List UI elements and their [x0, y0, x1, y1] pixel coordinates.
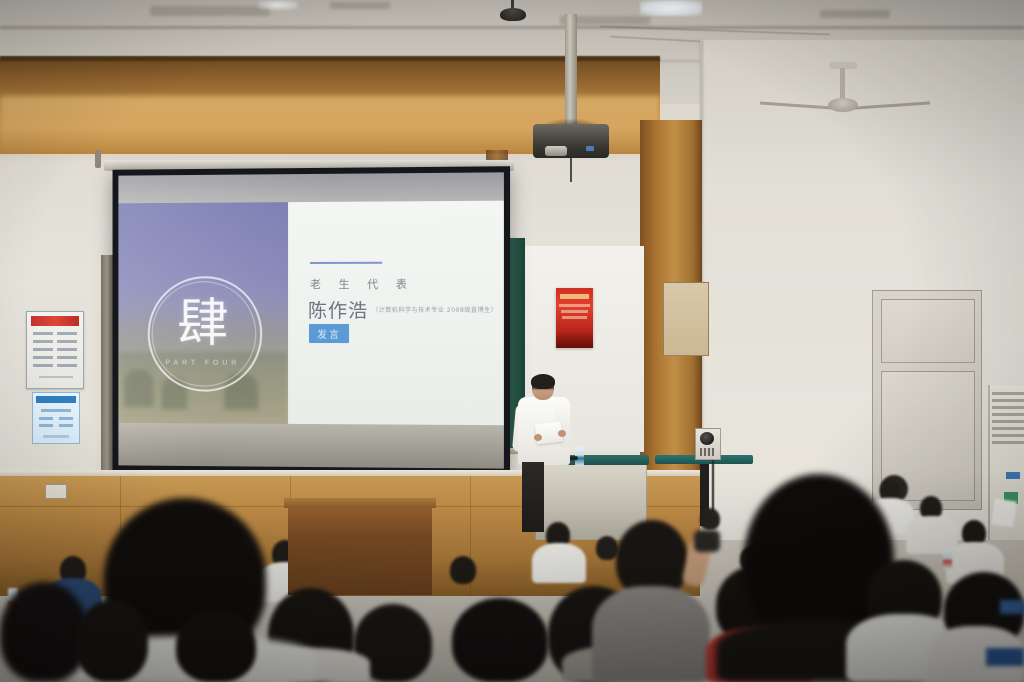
- notice-board-red-header: [26, 311, 84, 389]
- projection-screen-frame: 肆 PART FOUR 老 生 代 表 陈作浩 （计算机科学与技术专业 2008…: [113, 166, 511, 475]
- red-propaganda-poster: [556, 288, 593, 348]
- slide-logo-subtitle: PART FOUR: [148, 360, 258, 367]
- held-paper: [991, 499, 1016, 528]
- poster-header: [36, 396, 76, 403]
- slide-accent-rule: [310, 262, 382, 264]
- audience-phone: [694, 530, 720, 552]
- slide-logo: 肆 PART FOUR: [148, 276, 258, 388]
- air-conditioner-display: [1006, 472, 1020, 479]
- ceiling-light: [258, 0, 298, 10]
- ceiling-speaker: [500, 8, 526, 21]
- poster-row: [57, 332, 77, 335]
- poster-text-bar: [559, 304, 590, 307]
- poster-row: [57, 340, 77, 343]
- water-bottle: [943, 548, 952, 569]
- screen-support-post: [101, 255, 113, 473]
- door-panel-upper: [881, 299, 975, 363]
- loudspeaker-cone-icon: [700, 432, 714, 445]
- lecture-hall-photo: 肆 PART FOUR 老 生 代 表 陈作浩 （计算机科学与技术专业 2008…: [0, 0, 1024, 682]
- poster-row: [33, 356, 53, 359]
- audience-head: [76, 600, 148, 682]
- poster-row: [57, 356, 77, 359]
- slide-left-panel: 肆 PART FOUR: [118, 202, 288, 424]
- slide-speaker-meta: （计算机科学与技术专业 2008级直博生）: [372, 305, 497, 314]
- audience-head: [596, 536, 618, 560]
- poster-text-bar: [561, 310, 588, 313]
- poster-row: [41, 409, 71, 412]
- poster-row: [59, 424, 73, 427]
- projector-wire: [570, 156, 572, 182]
- poster-footer: [43, 435, 69, 438]
- speaker-legs: [522, 462, 544, 532]
- poster-row: [33, 348, 53, 351]
- poster-row: [33, 340, 53, 343]
- poster-row: [57, 364, 77, 367]
- poster-row: [57, 348, 77, 351]
- wall-outlet[interactable]: [45, 484, 67, 499]
- poster-footer: [39, 376, 73, 378]
- loudspeaker-grill: [700, 448, 714, 456]
- poster-title-bar: [560, 294, 589, 299]
- fan-rod: [840, 68, 845, 100]
- audience-head: [176, 610, 256, 682]
- speaker-hand: [558, 430, 566, 437]
- projection-screen: 肆 PART FOUR 老 生 代 表 陈作浩 （计算机科学与技术专业 2008…: [118, 172, 504, 468]
- audience-head: [452, 598, 548, 682]
- poster-header: [31, 316, 79, 326]
- air-conditioner-vents: [992, 392, 1024, 444]
- fan-hub: [828, 98, 858, 112]
- ceiling-patch: [820, 10, 890, 18]
- soffit-edge: [0, 56, 660, 61]
- poster-row: [39, 417, 53, 420]
- slide-logo-character: 肆: [148, 298, 258, 350]
- poster-row: [39, 424, 53, 427]
- poster-row: [33, 332, 53, 335]
- audience-head: [0, 582, 88, 682]
- notice-panel: [663, 282, 709, 356]
- chair-back: [986, 648, 1024, 666]
- projector-indicator: [586, 146, 594, 151]
- wooden-podium: [288, 503, 432, 595]
- slide-right-panel: 老 生 代 表 陈作浩 （计算机科学与技术专业 2008级直博生） 发言: [288, 201, 504, 426]
- ceiling-patch: [330, 2, 390, 9]
- ceiling-seam: [0, 26, 1024, 29]
- audience-head: [450, 556, 476, 584]
- poster-row: [59, 417, 73, 420]
- slide-speaker-name: 陈作浩: [308, 296, 368, 323]
- audience-head: [700, 508, 720, 530]
- audience-shirt: [532, 543, 586, 583]
- speaker-hair: [531, 374, 555, 389]
- poster-skyline: [556, 332, 593, 348]
- poster-text-bar: [562, 316, 587, 319]
- speaker-hand: [534, 434, 542, 441]
- chair-back: [1000, 600, 1024, 614]
- podium-top: [284, 498, 436, 508]
- projector-lens: [545, 146, 567, 156]
- projector-mount-pole: [565, 14, 577, 126]
- notice-board-blue-header: [32, 392, 80, 444]
- screen-bottom-margin: [118, 423, 504, 469]
- door-handle[interactable]: [95, 150, 101, 168]
- slide-kicker-text: 老 生 代 表: [310, 276, 414, 292]
- ceiling-patch: [150, 6, 270, 16]
- audience-shirt: [592, 586, 710, 682]
- screen-top-margin: [118, 172, 504, 203]
- ceiling-light: [640, 0, 702, 16]
- slide-badge: 发言: [309, 324, 349, 343]
- poster-row: [33, 364, 53, 367]
